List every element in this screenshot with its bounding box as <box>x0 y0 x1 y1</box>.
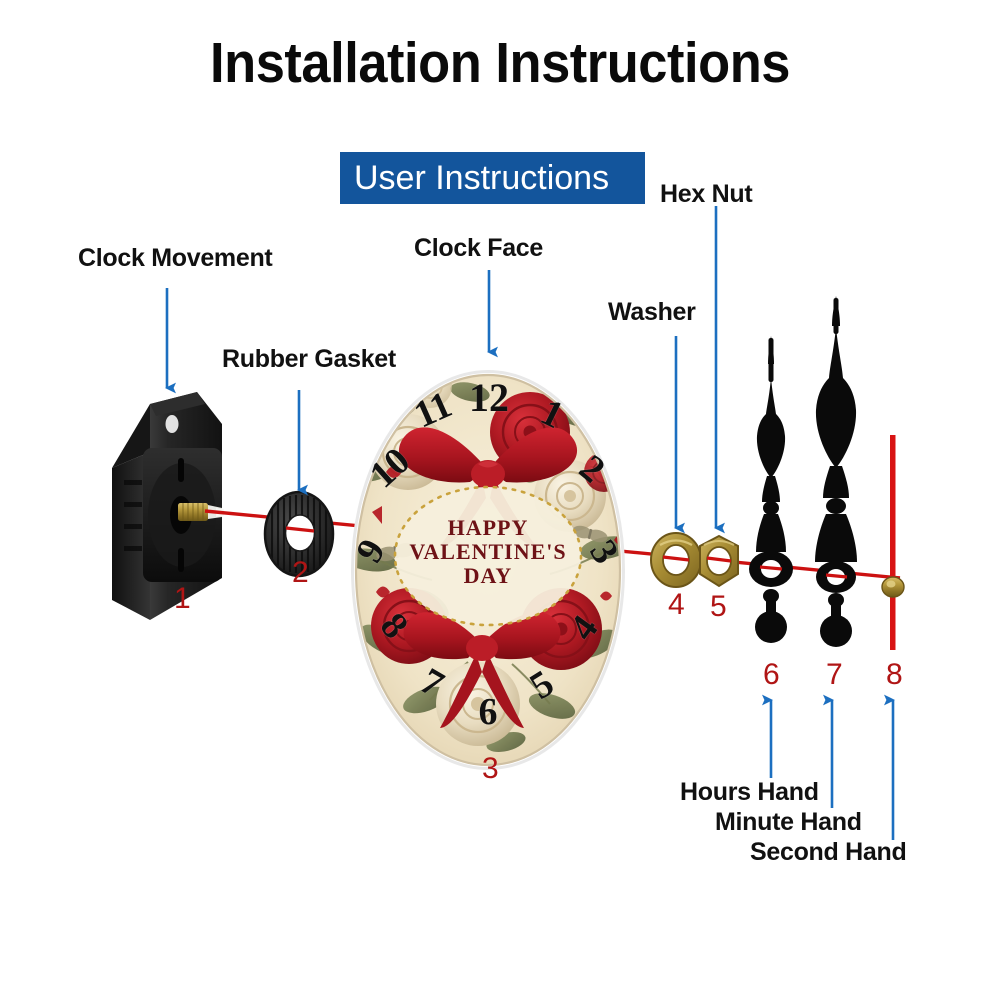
part-number-5: 5 <box>710 590 727 624</box>
label-hours-hand: Hours Hand <box>680 778 819 807</box>
center-line-1: HAPPY <box>398 516 578 540</box>
part-number-3: 3 <box>482 752 499 786</box>
label-minute-hand: Minute Hand <box>715 808 862 837</box>
center-line-2: VALENTINE'S <box>398 540 578 564</box>
label-clock-movement: Clock Movement <box>78 244 272 273</box>
part-hours-hand <box>749 336 793 643</box>
part-second-hand <box>882 435 904 650</box>
clock-numeral-6: 6 <box>474 690 502 734</box>
part-number-7: 7 <box>826 658 843 692</box>
clock-numeral-12: 12 <box>468 374 510 421</box>
part-clock-movement <box>112 392 224 620</box>
part-number-8: 8 <box>886 658 903 692</box>
clock-face-center-text: HAPPY VALENTINE'S DAY <box>398 516 578 587</box>
label-washer: Washer <box>608 298 696 327</box>
label-clock-face: Clock Face <box>414 234 543 263</box>
part-number-2: 2 <box>292 556 309 590</box>
label-second-hand: Second Hand <box>750 838 906 867</box>
part-number-6: 6 <box>763 658 780 692</box>
diagram-canvas: Installation Instructions User Instructi… <box>0 0 1000 1000</box>
center-line-3: DAY <box>398 564 578 588</box>
part-number-1: 1 <box>174 582 191 616</box>
part-number-4: 4 <box>668 588 685 622</box>
label-rubber-gasket: Rubber Gasket <box>222 345 396 374</box>
label-hex-nut: Hex Nut <box>660 180 752 209</box>
part-minute-hand <box>815 296 857 647</box>
